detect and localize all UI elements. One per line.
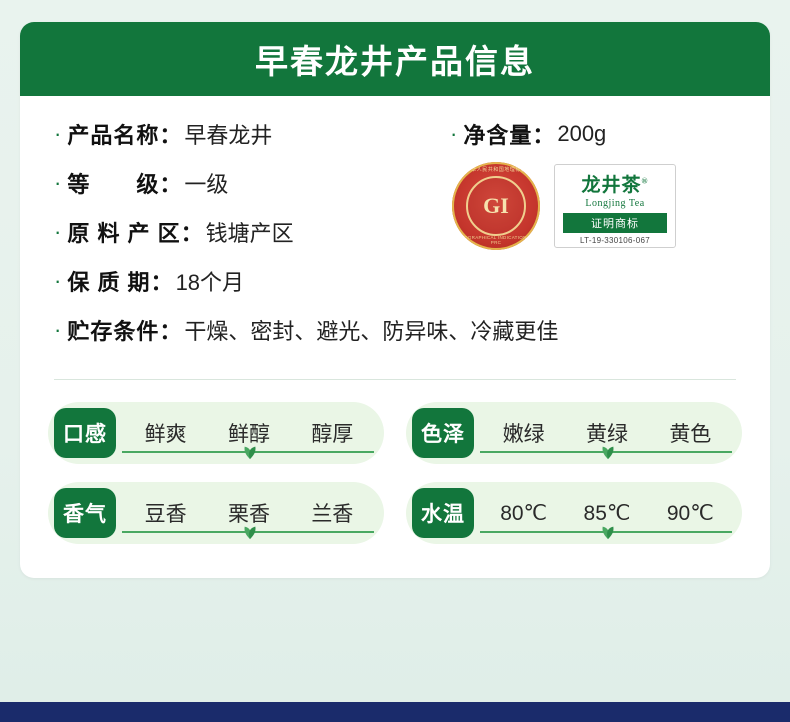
longjing-title-wrap: 龙井茶® (582, 170, 649, 197)
bullet-icon: · (54, 172, 61, 194)
attribute-value: 黄色 (669, 418, 711, 448)
bottom-strip (0, 702, 790, 722)
gi-inner-ring: GI (466, 176, 526, 236)
longjing-banner: 证明商标 (563, 213, 667, 233)
certification-badges: 中华人民共和国地理标志 GI GEOGRAPHICAL INDICATION O… (452, 162, 676, 250)
info-value: 早春龙井 (184, 118, 272, 150)
gi-center-text: GI (483, 193, 509, 219)
attribute-value: 豆香 (145, 498, 187, 528)
attributes-grid: 口感 鲜爽 鲜醇 醇厚 色泽 (20, 380, 770, 578)
leaf-icon (241, 444, 259, 460)
bullet-icon: · (450, 123, 457, 145)
attribute-aroma: 香气 豆香 栗香 兰香 (48, 482, 384, 544)
product-info-card: 早春龙井产品信息 · 产品名称： 早春龙井 · 等 级： 一级 · 原 料 产 … (20, 22, 770, 578)
net-weight-label: 净含量： (463, 118, 555, 150)
geographical-indication-seal-icon: 中华人民共和国地理标志 GI GEOGRAPHICAL INDICATION O… (452, 162, 540, 250)
leaf-icon (241, 524, 259, 540)
info-label: 贮存条件： (67, 314, 182, 346)
attribute-value: 兰香 (311, 498, 353, 528)
attribute-values: 鲜爽 鲜醇 醇厚 (116, 402, 384, 464)
attribute-water-temperature: 水温 80℃ 85℃ 90℃ (406, 482, 742, 544)
info-row-shelf-life: · 保 质 期： 18个月 (54, 265, 736, 297)
card-header: 早春龙井产品信息 (20, 22, 770, 96)
attribute-values: 80℃ 85℃ 90℃ (474, 482, 742, 544)
info-row-storage: · 贮存条件： 干燥、密封、避光、防异味、冷藏更佳 (54, 314, 736, 346)
attribute-value: 醇厚 (311, 418, 353, 448)
longjing-subtitle: Longjing Tea (585, 198, 644, 209)
gi-top-text: 中华人民共和国地理标志 (452, 166, 540, 173)
info-label: 等 级： (67, 167, 182, 199)
bullet-icon: · (54, 270, 61, 292)
info-value: 一级 (184, 167, 228, 199)
info-label: 产品名称： (67, 118, 182, 150)
attribute-value: 90℃ (667, 501, 714, 526)
attribute-tag: 香气 (54, 488, 116, 538)
attribute-values: 嫩绿 黄绿 黄色 (474, 402, 742, 464)
leaf-icon (599, 524, 617, 540)
attribute-value: 80℃ (500, 501, 547, 526)
registered-mark: ® (642, 177, 649, 186)
page-title: 早春龙井产品信息 (255, 35, 535, 83)
info-section: · 产品名称： 早春龙井 · 等 级： 一级 · 原 料 产 区： 钱塘产区 ·… (20, 96, 770, 371)
attribute-value: 鲜爽 (145, 418, 187, 448)
info-value: 干燥、密封、避光、防异味、冷藏更佳 (184, 314, 558, 346)
attribute-color: 色泽 嫩绿 黄绿 黄色 (406, 402, 742, 464)
bullet-icon: · (54, 221, 61, 243)
attribute-tag: 口感 (54, 408, 116, 458)
attribute-tag: 色泽 (412, 408, 474, 458)
info-value: 钱塘产区 (206, 216, 294, 248)
net-weight-value: 200g (557, 121, 606, 147)
info-label: 原 料 产 区： (67, 216, 203, 248)
gi-bottom-text: GEOGRAPHICAL INDICATION OF PRC (452, 235, 540, 245)
attribute-taste: 口感 鲜爽 鲜醇 醇厚 (48, 402, 384, 464)
info-row-net-weight: · 净含量： 200g (450, 118, 606, 150)
bullet-icon: · (54, 319, 61, 341)
longjing-trademark-icon: 龙井茶® Longjing Tea 证明商标 LT-19-330106-067 (554, 164, 676, 248)
attribute-values: 豆香 栗香 兰香 (116, 482, 384, 544)
leaf-icon (599, 444, 617, 460)
page-background: 早春龙井产品信息 · 产品名称： 早春龙井 · 等 级： 一级 · 原 料 产 … (0, 0, 790, 722)
info-value: 18个月 (176, 265, 244, 297)
info-row-product-name: · 产品名称： 早春龙井 (54, 118, 736, 150)
longjing-title: 龙井茶 (582, 175, 642, 196)
longjing-code: LT-19-330106-067 (580, 236, 650, 245)
attribute-value: 85℃ (584, 501, 631, 526)
attribute-value: 嫩绿 (503, 418, 545, 448)
attribute-tag: 水温 (412, 488, 474, 538)
info-label: 保 质 期： (67, 265, 173, 297)
bullet-icon: · (54, 123, 61, 145)
